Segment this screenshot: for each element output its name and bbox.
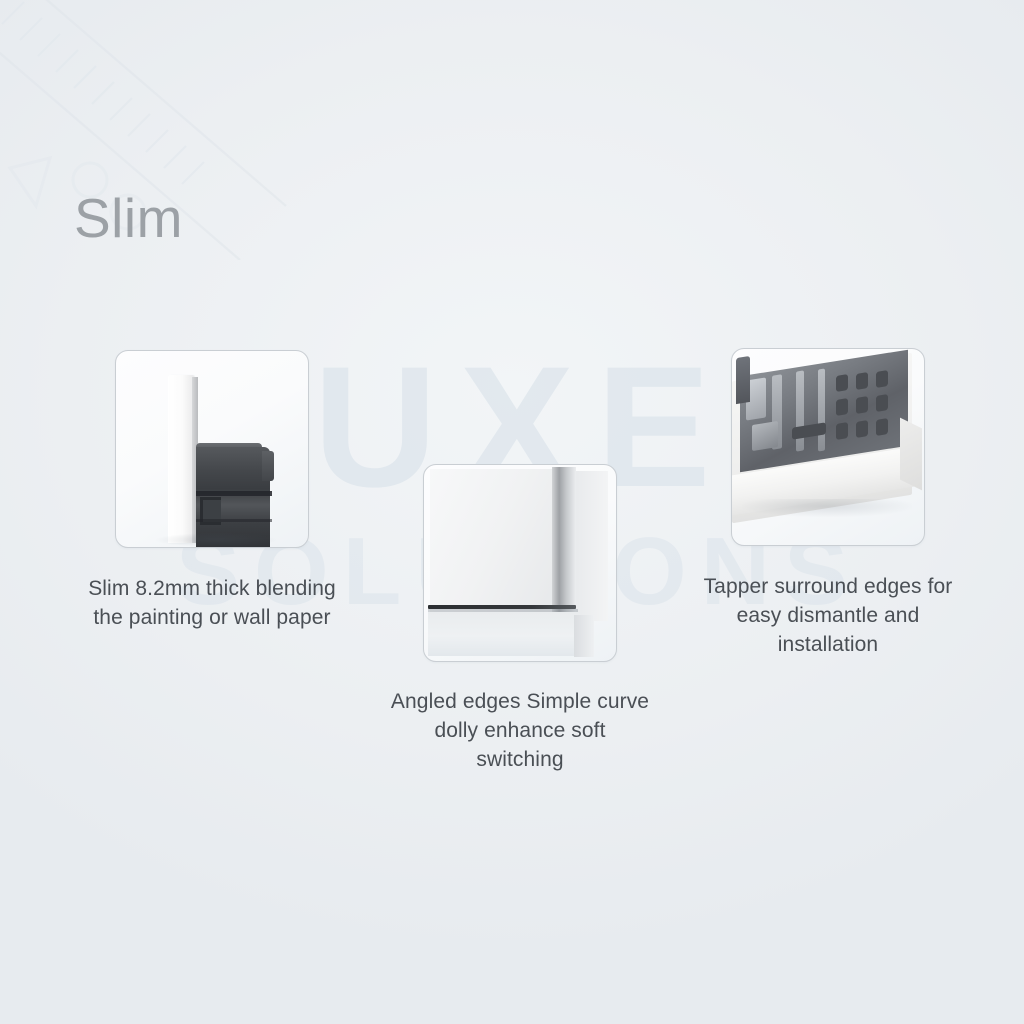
page-title: Slim — [74, 191, 183, 246]
mechanism-band-upper — [196, 491, 272, 496]
rear-cavity-slot — [876, 370, 888, 388]
rear-cavity-slot — [836, 398, 848, 416]
mechanism-band-lower — [196, 519, 272, 522]
rear-cavity-slot — [836, 422, 848, 440]
rear-cavity-slot — [876, 394, 888, 412]
feature-caption: Tapper surround edges for easy dismantle… — [698, 572, 958, 659]
rear-rib — [818, 368, 825, 451]
product-photo-switch-front-angled — [423, 464, 617, 662]
product-photo-switch-rear-faceplate — [731, 348, 925, 546]
faceplate-lower-surface — [428, 612, 580, 656]
rear-cavity-slot — [856, 372, 868, 390]
rear-rib — [752, 421, 778, 451]
feature-angled-edges: Angled edges Simple curve dolly enhance … — [390, 464, 650, 774]
feature-tapper-edges: Tapper surround edges for easy dismantle… — [698, 348, 958, 659]
faceplate-front-surface — [430, 469, 560, 619]
feature-caption: Slim 8.2mm thick blending the painting o… — [82, 574, 342, 632]
faceplate-side-edge — [168, 375, 194, 543]
feature-slim-thickness: Slim 8.2mm thick blending the painting o… — [82, 350, 342, 632]
rear-cavity-slot — [856, 396, 868, 414]
product-shadow — [742, 499, 912, 517]
product-photo-switch-side-profile — [115, 350, 309, 548]
faceplate-angled-bevel — [552, 467, 576, 619]
rear-mounting-hook — [736, 356, 750, 404]
product-feature-banner: LUXEL SOLUTIONS Slim Slim 8.2mm thick bl… — [0, 0, 1024, 1024]
faceplate-tapered-side-edge — [900, 418, 922, 491]
rear-rib — [796, 370, 804, 451]
product-shadow — [156, 533, 276, 547]
faceplate-lower-edge — [574, 615, 594, 657]
faceplate-right-wall — [574, 471, 608, 621]
rocker-gap-line — [428, 605, 576, 609]
rear-cavity-slot — [856, 420, 868, 438]
feature-caption: Angled edges Simple curve dolly enhance … — [390, 687, 650, 774]
rear-cavity-slot — [836, 374, 848, 392]
rocker-soft-shadow — [428, 609, 578, 612]
rear-cavity-slot — [876, 418, 888, 436]
switch-mechanism-tab — [262, 451, 274, 481]
